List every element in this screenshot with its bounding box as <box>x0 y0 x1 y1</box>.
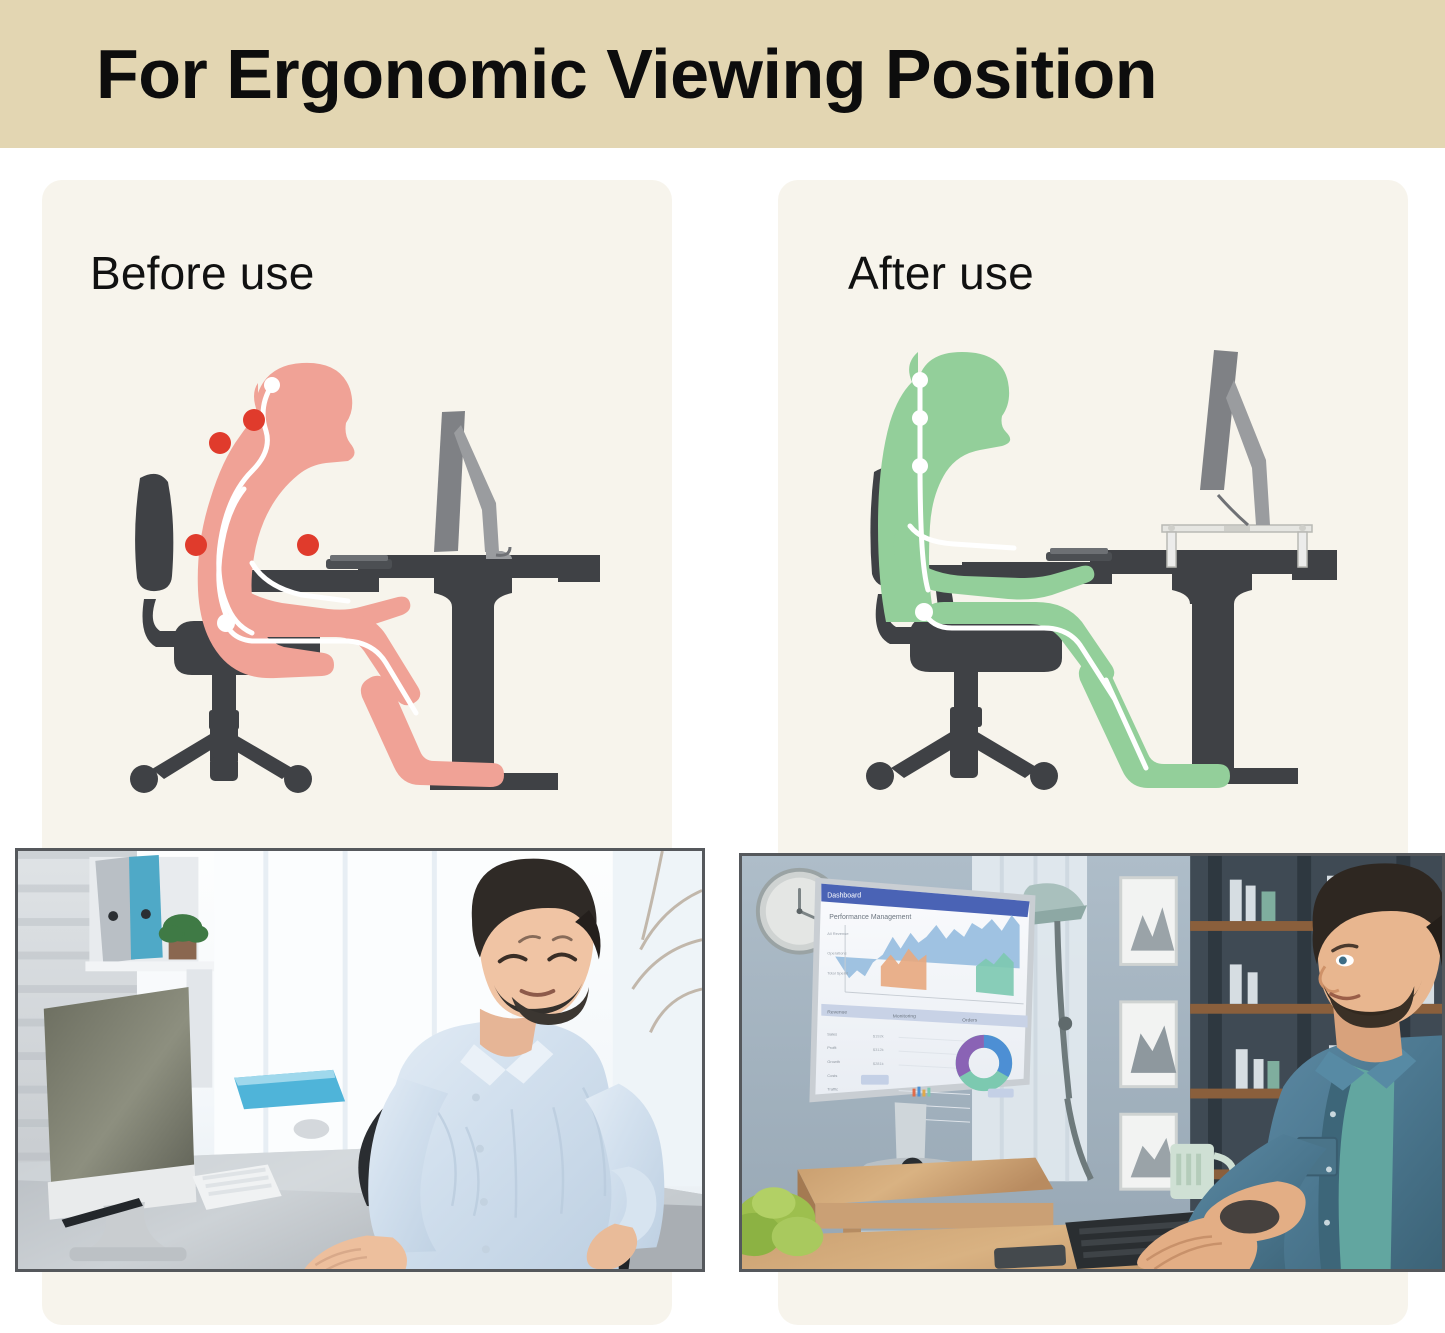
monitor-low <box>434 411 512 559</box>
hunched-posture-illustration <box>130 355 600 825</box>
svg-text:Operations: Operations <box>827 951 846 956</box>
svg-text:Orders: Orders <box>962 1018 978 1024</box>
svg-text:Profit: Profit <box>827 1045 837 1050</box>
header-banner: For Ergonomic Viewing Position <box>0 0 1445 148</box>
pain-point-shoulder <box>209 432 231 454</box>
pain-point-elbow <box>297 534 319 556</box>
panel-label-after: After use <box>848 246 1034 300</box>
framed-prints <box>1121 878 1177 1189</box>
svg-text:$192k: $192k <box>873 1033 884 1038</box>
keyboard-low <box>326 555 392 569</box>
dashboard-heading: Performance Management <box>829 914 911 921</box>
upright-posture-svg <box>862 350 1337 825</box>
svg-text:$281k: $281k <box>873 1061 884 1066</box>
svg-text:Revenue: Revenue <box>827 1010 847 1016</box>
monitor-raised <box>1200 350 1270 525</box>
page-title: For Ergonomic Viewing Position <box>96 24 1157 124</box>
man-working-with-raised-monitor-photo: Dashboard Performance Management All Rev… <box>739 853 1445 1272</box>
svg-text:All Revenue: All Revenue <box>827 931 849 936</box>
svg-text:Costs: Costs <box>827 1073 837 1078</box>
dashboard-titlebar-text: Dashboard <box>827 892 861 899</box>
pain-point-neck <box>243 409 265 431</box>
pain-point-lower-back <box>185 534 207 556</box>
svg-text:Growth: Growth <box>827 1059 840 1064</box>
svg-text:Traffic: Traffic <box>827 1087 838 1092</box>
svg-text:Monitoring: Monitoring <box>893 1014 916 1020</box>
svg-text:$312k: $312k <box>873 1047 884 1052</box>
man-with-back-pain-photo <box>15 848 705 1272</box>
keyboard-raised <box>1046 548 1112 561</box>
upright-posture-illustration <box>862 350 1337 825</box>
hunched-posture-svg <box>130 355 600 825</box>
svg-text:Sales: Sales <box>827 1031 837 1036</box>
svg-text:Total Spend: Total Spend <box>827 970 848 975</box>
panel-label-before: Before use <box>90 246 314 300</box>
